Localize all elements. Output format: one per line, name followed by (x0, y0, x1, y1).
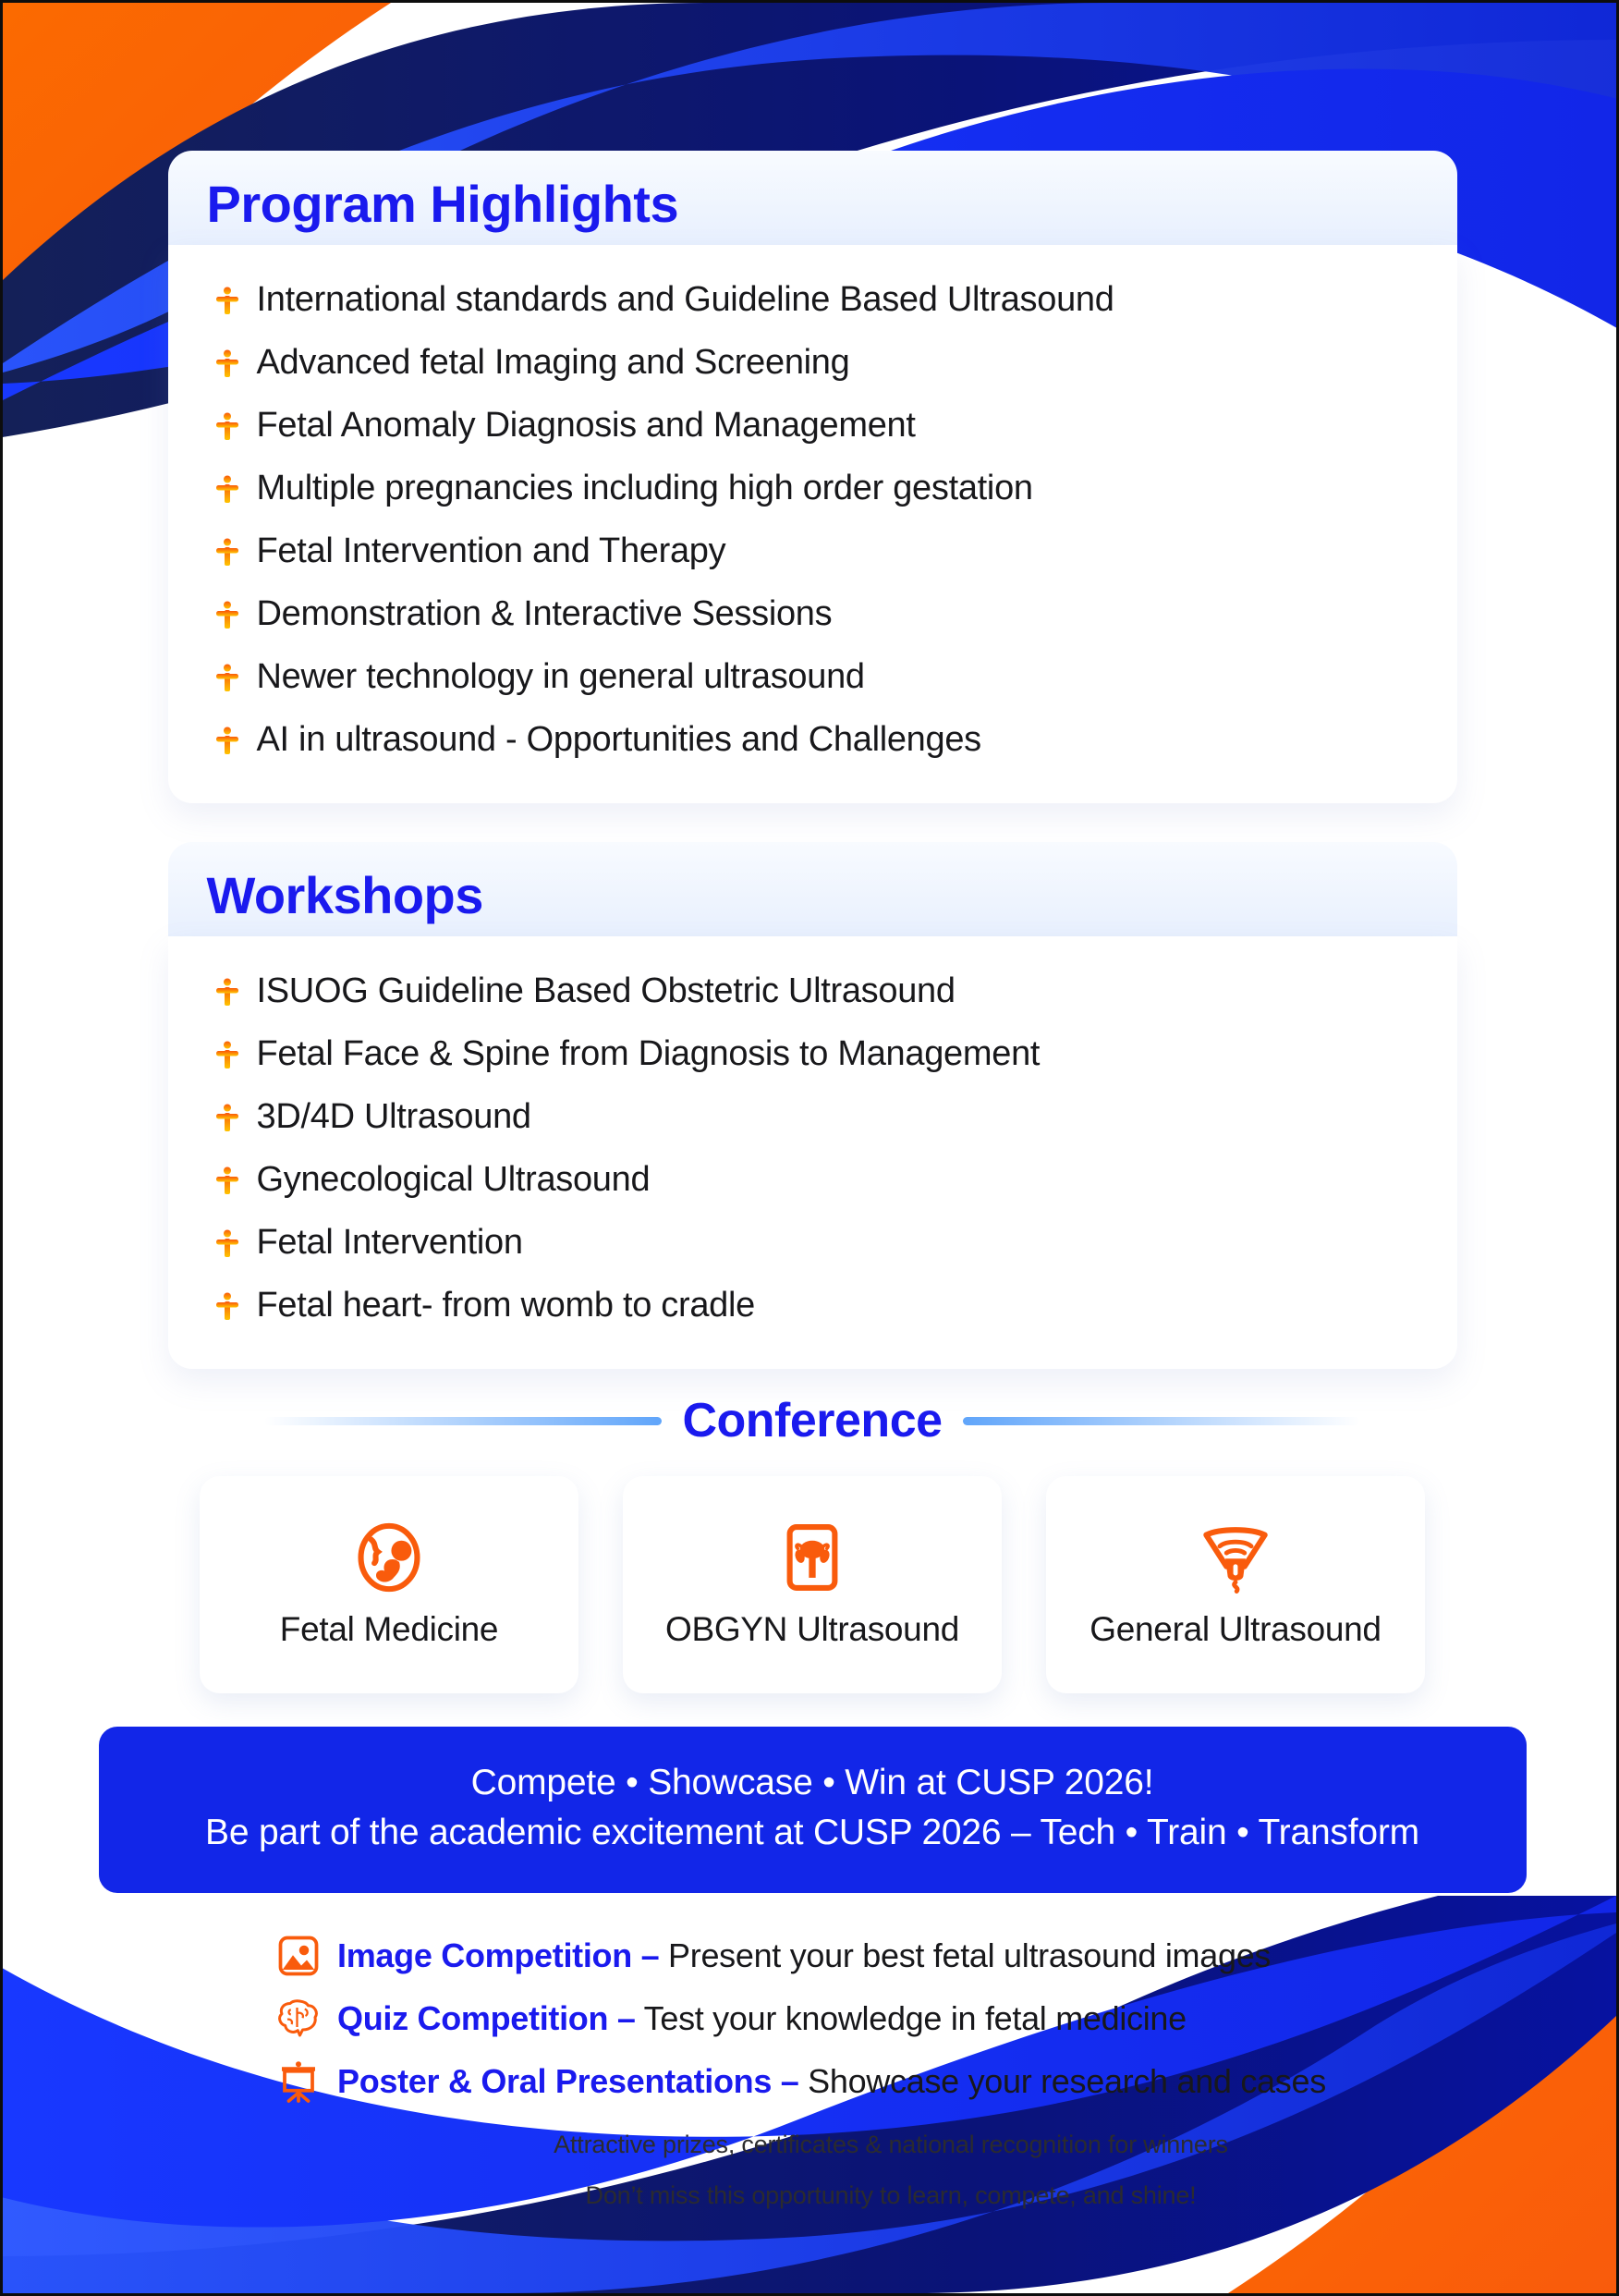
person-figure-icon (213, 280, 242, 321)
person-figure-icon (213, 406, 242, 446)
person-figure-icon (213, 720, 242, 761)
workshops-list: ISUOG Guideline Based Obstetric Ultrasou… (168, 960, 1457, 1337)
competition-title: Image Competition – (337, 1936, 659, 1974)
conference-card[interactable]: Fetal Medicine (200, 1476, 578, 1693)
conference-card-label: OBGYN Ultrasound (665, 1610, 959, 1649)
image-photo-icon (276, 1934, 321, 1978)
list-item-label: 3D/4D Ultrasound (257, 1098, 531, 1137)
person-figure-icon (213, 1286, 242, 1326)
person-figure-icon (213, 1160, 242, 1201)
conference-card[interactable]: OBGYN Ultrasound (623, 1476, 1002, 1693)
list-item-label: ISUOG Guideline Based Obstetric Ultrasou… (257, 972, 956, 1011)
list-item-label: Fetal heart- from womb to cradle (257, 1287, 756, 1325)
section-header: Program Highlights (168, 151, 1457, 245)
list-item-label: Advanced fetal Imaging and Screening (257, 344, 850, 383)
section-title: Program Highlights (207, 178, 1457, 230)
competition-text: Quiz Competition – Test your knowledge i… (337, 1999, 1187, 2038)
list-item-label: Fetal Intervention (257, 1224, 523, 1263)
conference-title: Conference (682, 1393, 942, 1448)
list-item: Fetal heart- from womb to cradle (168, 1275, 1457, 1337)
person-figure-icon (213, 1223, 242, 1264)
list-item-label: Gynecological Ultrasound (257, 1161, 651, 1200)
list-item: 3D/4D Ultrasound (168, 1086, 1457, 1149)
footnote-text: Don’t miss this opportunity to learn, co… (276, 2182, 1505, 2210)
person-figure-icon (213, 343, 242, 384)
competition-text: Image Competition – Present your best fe… (337, 1936, 1271, 1975)
brain-icon (276, 1997, 321, 2041)
footnote-text: Attractive prizes, certificates & nation… (276, 2131, 1505, 2159)
competition-title: Poster & Oral Presentations – (337, 2062, 798, 2100)
list-item: International standards and Guideline Ba… (168, 269, 1457, 332)
list-item: Fetal Intervention and Therapy (168, 520, 1457, 583)
competition-text: Poster & Oral Presentations – Showcase y… (337, 2062, 1326, 2101)
person-figure-icon (213, 531, 242, 572)
section-program-highlights: Program Highlights International standar… (168, 151, 1457, 803)
person-figure-icon (213, 1097, 242, 1138)
fetus-in-womb-icon (353, 1521, 425, 1594)
person-figure-icon (213, 657, 242, 698)
section-title: Workshops (207, 870, 1457, 922)
list-item: AI in ultrasound - Opportunities and Cha… (168, 709, 1457, 772)
program-highlights-list: International standards and Guideline Ba… (168, 269, 1457, 772)
banner-line-2: Be part of the academic excitement at CU… (136, 1808, 1490, 1858)
person-figure-icon (213, 971, 242, 1012)
list-item-label: Newer technology in general ultrasound (257, 658, 865, 697)
competition-description: Present your best fetal ultrasound image… (659, 1936, 1271, 1974)
list-item-label: Fetal Face & Spine from Diagnosis to Man… (257, 1035, 1041, 1074)
competition-description: Test your knowledge in fetal medicine (636, 1999, 1187, 2037)
divider-line-left (264, 1417, 662, 1425)
section-header: Workshops (168, 842, 1457, 936)
divider-line-right (963, 1417, 1360, 1425)
person-figure-icon (213, 1034, 242, 1075)
conference-card-label: General Ultrasound (1089, 1610, 1381, 1649)
conference-divider: Conference (168, 1393, 1457, 1448)
competition-description: Showcase your research and cases (798, 2062, 1325, 2100)
list-item: Fetal Intervention (168, 1212, 1457, 1275)
list-item-label: Fetal Intervention and Therapy (257, 532, 726, 571)
list-item: Gynecological Ultrasound (168, 1149, 1457, 1212)
competition-row: Quiz Competition – Test your knowledge i… (276, 1987, 1505, 2050)
easel-board-icon (276, 2059, 321, 2104)
list-item-label: International standards and Guideline Ba… (257, 281, 1114, 320)
ultrasound-probe-icon (1199, 1521, 1272, 1594)
list-item: Newer technology in general ultrasound (168, 646, 1457, 709)
list-item: Demonstration & Interactive Sessions (168, 583, 1457, 646)
poster-page: Program Highlights International standar… (0, 0, 1619, 2296)
banner-line-1: Compete • Showcase • Win at CUSP 2026! (136, 1758, 1490, 1808)
section-workshops: Workshops ISUOG Guideline Based Obstetri… (168, 842, 1457, 1369)
list-item-label: Demonstration & Interactive Sessions (257, 595, 833, 634)
section-body: ISUOG Guideline Based Obstetric Ultrasou… (168, 936, 1457, 1369)
list-item: ISUOG Guideline Based Obstetric Ultrasou… (168, 960, 1457, 1023)
conference-cards: Fetal MedicineOBGYN UltrasoundGeneral Ul… (119, 1476, 1505, 1693)
list-item-label: Multiple pregnancies including high orde… (257, 470, 1033, 508)
list-item: Fetal Anomaly Diagnosis and Management (168, 395, 1457, 458)
competitions-list: Image Competition – Present your best fe… (119, 1924, 1505, 2210)
section-body: International standards and Guideline Ba… (168, 245, 1457, 803)
list-item-label: Fetal Anomaly Diagnosis and Management (257, 407, 916, 446)
competition-row: Poster & Oral Presentations – Showcase y… (276, 2050, 1505, 2113)
competition-title: Quiz Competition – (337, 1999, 636, 2037)
list-item-label: AI in ultrasound - Opportunities and Cha… (257, 721, 981, 760)
conference-card-label: Fetal Medicine (280, 1610, 498, 1649)
uterus-screen-icon (776, 1521, 848, 1594)
conference-card[interactable]: General Ultrasound (1046, 1476, 1425, 1693)
cta-banner: Compete • Showcase • Win at CUSP 2026! B… (99, 1727, 1527, 1893)
person-figure-icon (213, 469, 242, 509)
list-item: Fetal Face & Spine from Diagnosis to Man… (168, 1023, 1457, 1086)
list-item: Multiple pregnancies including high orde… (168, 458, 1457, 520)
list-item: Advanced fetal Imaging and Screening (168, 332, 1457, 395)
footnotes: Attractive prizes, certificates & nation… (276, 2131, 1505, 2210)
person-figure-icon (213, 594, 242, 635)
competition-row: Image Competition – Present your best fe… (276, 1924, 1505, 1987)
